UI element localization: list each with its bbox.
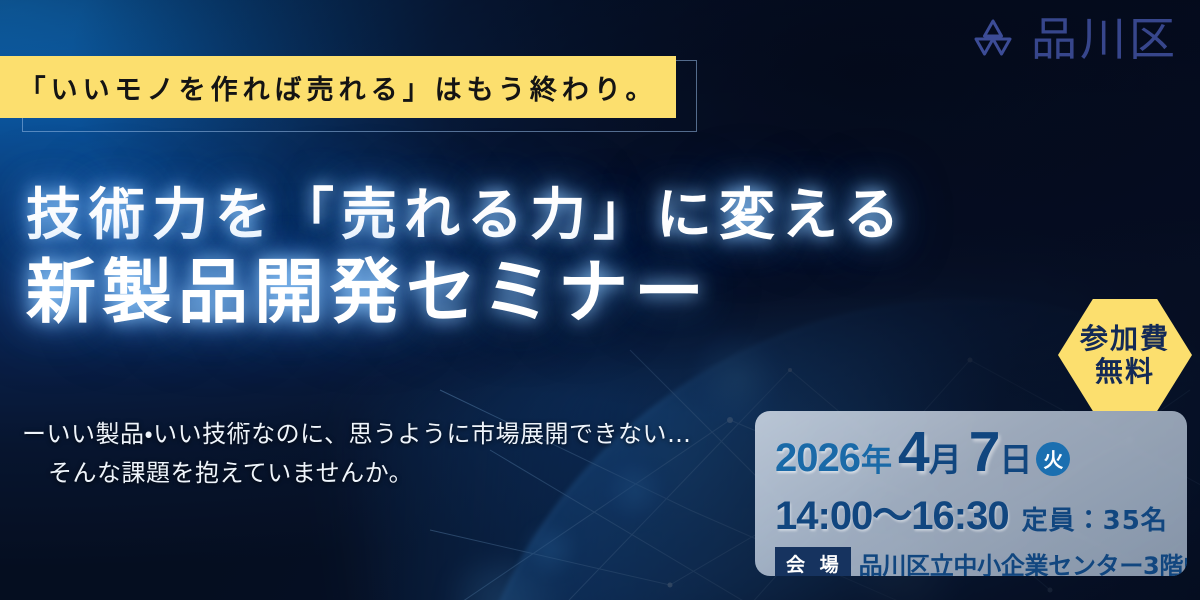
event-day: 7 [969, 419, 999, 485]
event-date-row: 2026 年 4 月 7 日 火 [775, 419, 1171, 485]
venue-label: 会 場 [775, 547, 851, 577]
event-time: 14:00〜16:30 [775, 483, 1009, 541]
event-year: 2026 [775, 436, 860, 481]
event-month-unit: 月 [929, 433, 962, 481]
kicker-ribbon: 「いいモノを作れば売れる」はもう終わり。 [0, 56, 676, 118]
shinagawa-logo: 品川区 [968, 16, 1178, 62]
event-day-unit: 日 [999, 433, 1032, 481]
subtitle-line-1: ーいい製品・いい技術なのに、思うように市場展開できない… [22, 415, 691, 454]
event-capacity: 定員：35名 [1022, 500, 1168, 537]
event-venue-row: 会 場 品川区立中小企業センター3階中会議室 [775, 546, 1171, 576]
venue-name: 品川区立中小企業センター3階中会議室 [859, 546, 1187, 576]
free-badge-line-2: 無料 [1095, 357, 1155, 386]
event-details-panel: 2026 年 4 月 7 日 火 14:00〜16:30 定員：35名 会 場 … [755, 411, 1187, 576]
free-badge-line-1: 参加費 [1080, 324, 1170, 353]
seminar-banner: 品川区 「いいモノを作れば売れる」はもう終わり。 技術力を「売れる力」に変える … [0, 0, 1200, 600]
headline-line-1: 技術力を「売れる力」に変える [26, 186, 906, 246]
logo-text: 品川区 [1031, 16, 1178, 62]
headline-line-2: 新製品開発セミナー [26, 256, 906, 330]
subtitle: ーいい製品・いい技術なのに、思うように市場展開できない… そんな課題を抱えていま… [22, 415, 691, 493]
shinagawa-triskelion-mark-icon [968, 16, 1018, 62]
event-year-unit: 年 [861, 435, 892, 480]
event-time-row: 14:00〜16:30 定員：35名 [775, 483, 1171, 541]
event-weekday-badge: 火 [1036, 442, 1070, 476]
headline: 技術力を「売れる力」に変える 新製品開発セミナー [26, 186, 906, 330]
kicker-text: 「いいモノを作れば売れる」はもう終わり。 [19, 68, 658, 107]
event-month: 4 [898, 419, 928, 485]
subtitle-line-2: そんな課題を抱えていませんか。 [22, 454, 691, 493]
